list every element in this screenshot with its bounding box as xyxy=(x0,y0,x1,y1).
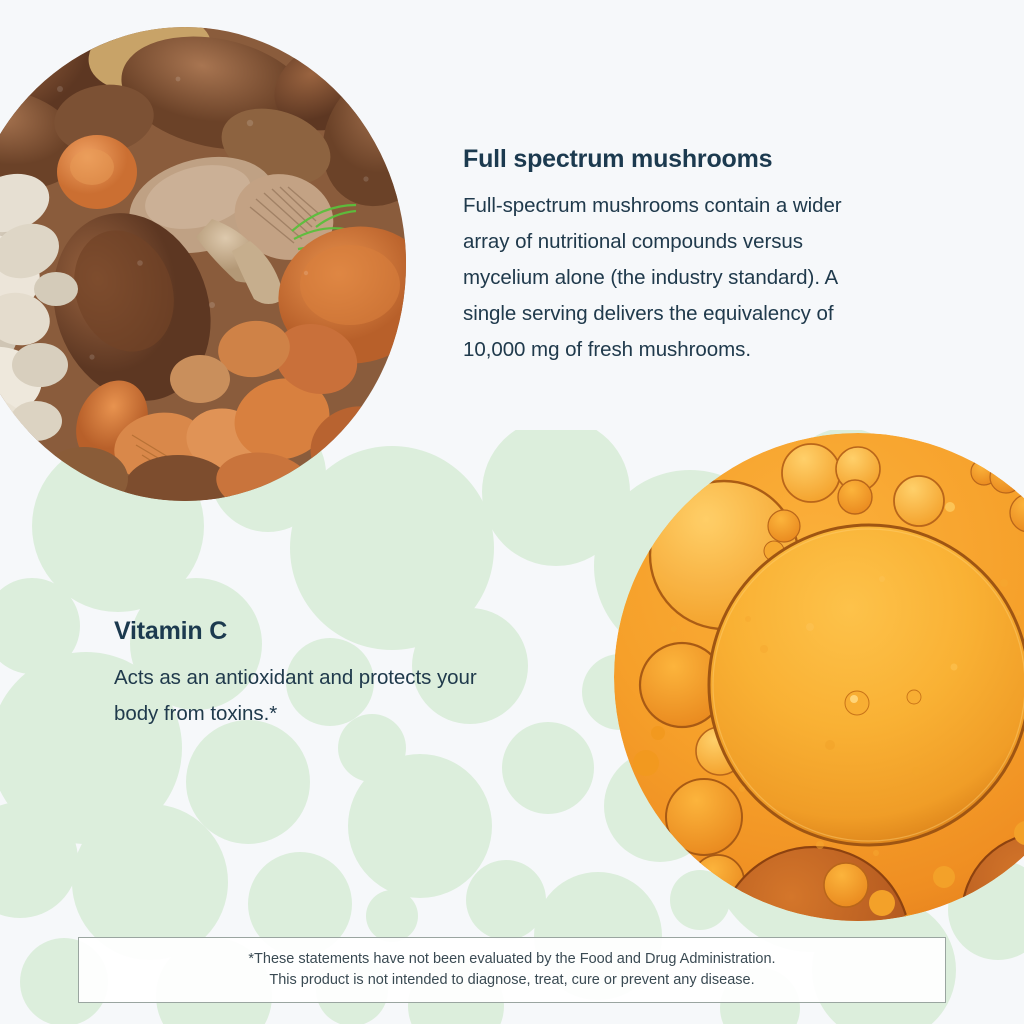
section-title: Full spectrum mushrooms xyxy=(463,146,867,174)
section-body: Acts as an antioxidant and protects your… xyxy=(114,660,514,732)
disclaimer-line-1: *These statements have not been evaluate… xyxy=(248,949,775,970)
section-full-spectrum-mushrooms: Full spectrum mushrooms Full-spectrum mu… xyxy=(463,146,867,368)
section-body: Full-spectrum mushrooms contain a wider … xyxy=(463,188,867,368)
oil-droplets-photo xyxy=(614,433,1024,921)
fda-disclaimer-box: *These statements have not been evaluate… xyxy=(78,937,946,1003)
section-title: Vitamin C xyxy=(114,618,514,646)
section-vitamin-c: Vitamin C Acts as an antioxidant and pro… xyxy=(114,618,514,732)
mushrooms-photo xyxy=(0,27,406,501)
disclaimer-line-2: This product is not intended to diagnose… xyxy=(269,970,754,991)
ingredient-panel: Full spectrum mushrooms Full-spectrum mu… xyxy=(0,0,1024,1024)
